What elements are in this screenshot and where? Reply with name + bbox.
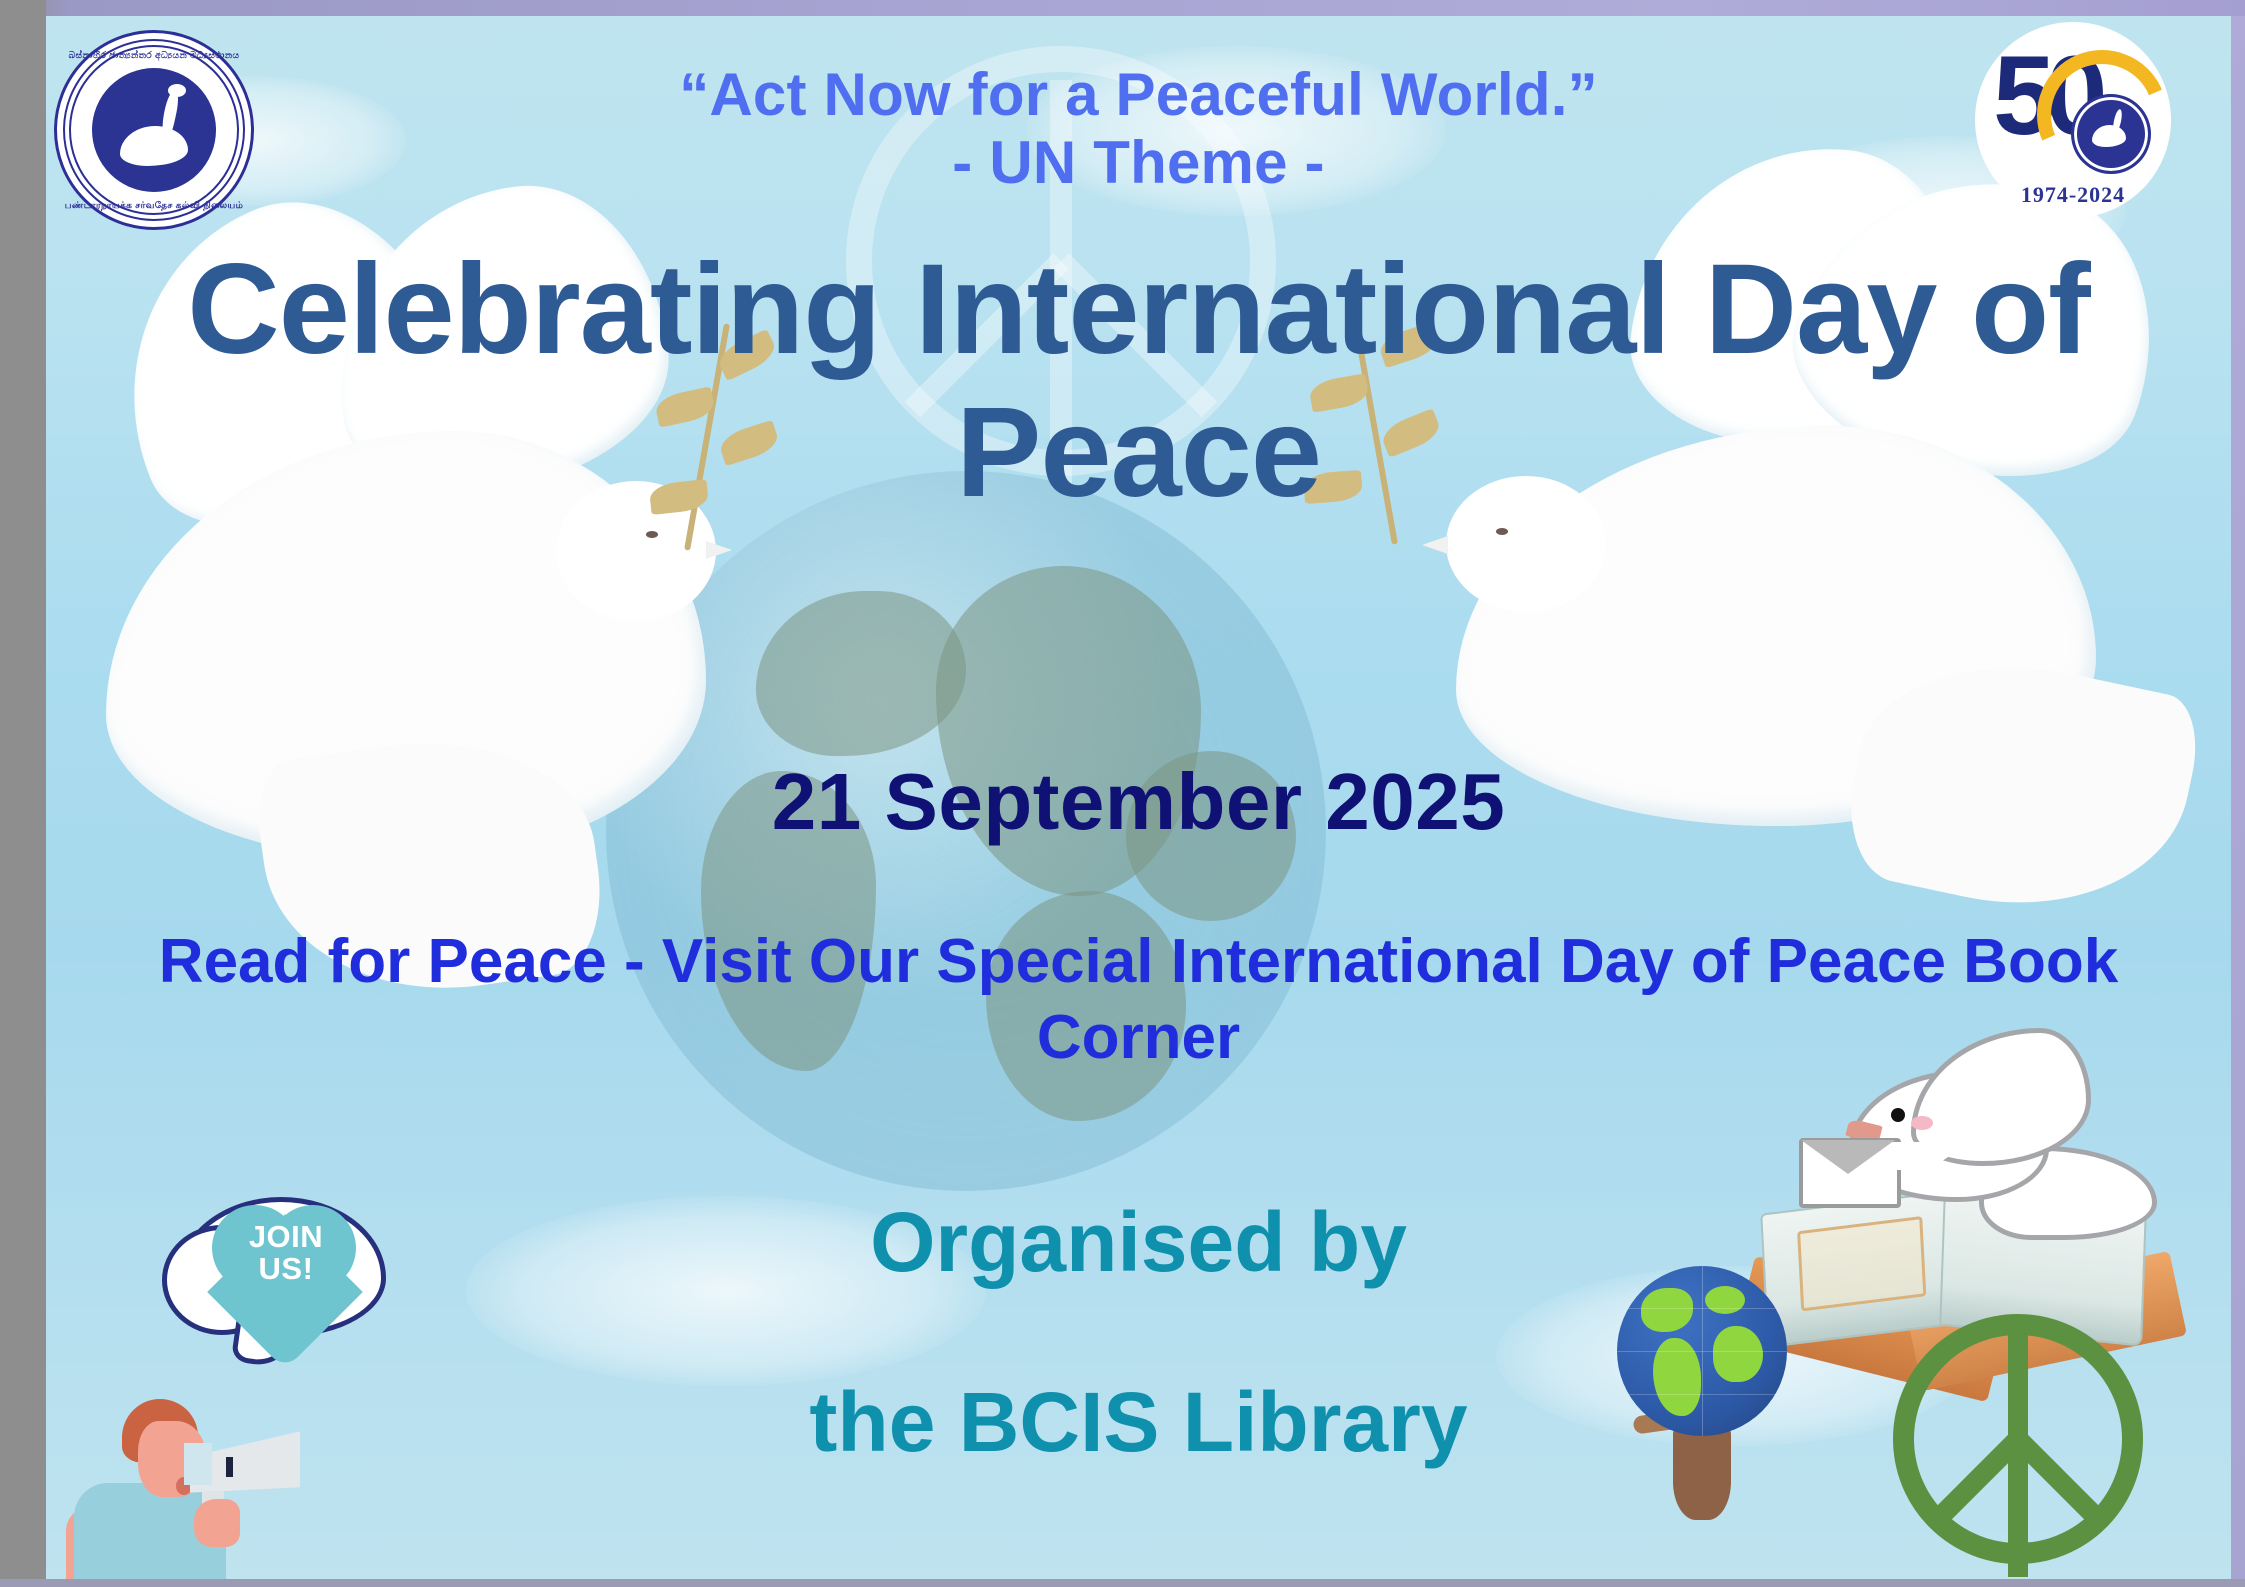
event-date: 21 September 2025: [46, 756, 2231, 848]
un-theme-quote: “Act Now for a Peaceful World.”: [46, 58, 2231, 131]
book-corner-illustration: [1611, 1016, 2231, 1579]
poster-top-border: [0, 0, 2245, 16]
megaphone-mouthpiece: [184, 1443, 212, 1485]
open-book-left-page: [1760, 1190, 1960, 1348]
bcis-institution-seal: බස්නාහිර ජාත්‍යන්තර අධ්‍යයන මධ්‍යස්ථානය …: [54, 30, 254, 230]
poster-left-border: [0, 0, 46, 1587]
seal-sinhala-text: බස්නාහිර ජාත්‍යන්තර අධ්‍යයන මධ්‍යස්ථානය: [54, 50, 254, 61]
seal-disc: [92, 68, 216, 192]
megaphone-button: [226, 1457, 233, 1477]
swan-icon: [120, 126, 188, 166]
poster-artboard: “Act Now for a Peaceful World.” - UN The…: [46, 16, 2231, 1579]
poster-bottom-border: [0, 1579, 2245, 1587]
heart-icon: JOIN US!: [212, 1201, 360, 1341]
swan-head: [168, 84, 186, 97]
join-us-line1: JOIN: [249, 1219, 323, 1254]
anniversary-years: 1974-2024: [1975, 182, 2171, 208]
peace-symbol-icon: [1893, 1314, 2143, 1564]
anniversary-mini-seal: [2071, 94, 2151, 174]
join-us-illustration: JOIN US!: [66, 1191, 406, 1579]
poster-canvas: “Act Now for a Peaceful World.” - UN The…: [0, 0, 2245, 1587]
un-theme-attribution: - UN Theme -: [46, 126, 2231, 199]
dove-cheek: [1911, 1116, 1933, 1130]
50th-anniversary-badge: 50 1974-2024: [1975, 22, 2171, 218]
person-hand: [194, 1499, 240, 1547]
envelope-icon: [1799, 1138, 1901, 1208]
dove-eye: [1891, 1108, 1905, 1122]
seal-tamil-text: பண்டாரநாயக்க சர்வதேச கல்வி நிலையம்: [54, 200, 254, 212]
globe-icon: [1617, 1266, 1787, 1436]
join-us-line2: US!: [259, 1251, 314, 1286]
globe-stand: [1673, 1424, 1731, 1520]
join-us-text: JOIN US!: [212, 1221, 360, 1284]
poster-title: Celebrating International Day of Peace: [46, 238, 2231, 525]
